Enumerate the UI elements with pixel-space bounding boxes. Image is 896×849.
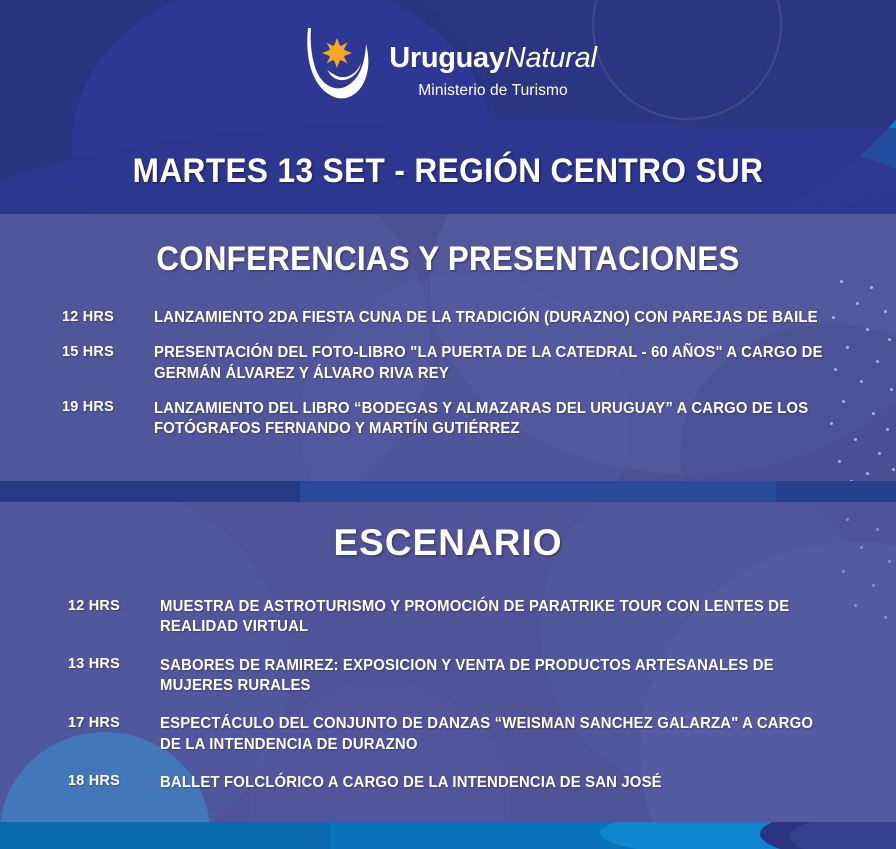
divider-dark-left [0, 481, 300, 502]
divider-dark-right [776, 481, 896, 502]
brand-wordmark: UruguayNatural [389, 44, 597, 73]
schedule-item: 12 HRS LANZAMIENTO 2DA FIESTA CUNA DE LA… [62, 308, 856, 328]
brand-subtitle: Ministerio de Turismo [389, 82, 597, 100]
page-title: MARTES 13 SET - REGIÓN CENTRO SUR [31, 152, 864, 191]
section-conferencias: CONFERENCIAS Y PRESENTACIONES 12 HRS LAN… [0, 214, 896, 481]
brand-logo-block: UruguayNatural Ministerio de Turismo [0, 22, 896, 106]
item-description: ESPECTÁCULO DEL CONJUNTO DE DANZAS “WEIS… [160, 714, 835, 755]
uruguay-natural-logo-icon [299, 22, 375, 106]
schedule-item: 12 HRS MUESTRA DE ASTROTURISMO Y PROMOCI… [68, 597, 856, 638]
item-description: SABORES DE RAMIREZ: EXPOSICION Y VENTA D… [160, 656, 835, 697]
item-time: 12 HRS [62, 308, 154, 325]
schedule-item: 18 HRS BALLET FOLCLÓRICO A CARGO DE LA I… [68, 773, 856, 793]
item-time: 15 HRS [62, 343, 154, 360]
item-description: BALLET FOLCLÓRICO A CARGO DE LA INTENDEN… [160, 773, 662, 793]
section-divider [0, 481, 896, 502]
item-time: 12 HRS [68, 597, 160, 614]
section-heading-escenario: ESCENARIO [0, 502, 896, 564]
schedule-item: 17 HRS ESPECTÁCULO DEL CONJUNTO DE DANZA… [68, 714, 856, 755]
item-time: 19 HRS [62, 399, 154, 416]
footer-decoration-navy-2 [790, 822, 896, 849]
schedule-item: 15 HRS PRESENTACIÓN DEL FOTO-LIBRO "LA P… [62, 343, 856, 384]
schedule-list-escenario: 12 HRS MUESTRA DE ASTROTURISMO Y PROMOCI… [0, 597, 896, 793]
item-description: PRESENTACIÓN DEL FOTO-LIBRO "LA PUERTA D… [154, 343, 835, 384]
section-escenario: ESCENARIO 12 HRS MUESTRA DE ASTROTURISMO… [0, 502, 896, 822]
item-time: 18 HRS [68, 773, 160, 790]
brand-name-bold: Uruguay [389, 42, 505, 74]
schedule-item: 19 HRS LANZAMIENTO DEL LIBRO “BODEGAS Y … [62, 399, 856, 440]
brand-name-italic: Natural [505, 42, 597, 74]
item-time: 13 HRS [68, 656, 160, 673]
item-description: MUESTRA DE ASTROTURISMO Y PROMOCIÓN DE P… [160, 597, 835, 638]
item-description: LANZAMIENTO 2DA FIESTA CUNA DE LA TRADIC… [154, 308, 818, 328]
section-heading-conferencias: CONFERENCIAS Y PRESENTACIONES [36, 214, 860, 279]
event-schedule-poster: UruguayNatural Ministerio de Turismo MAR… [0, 0, 896, 849]
poster-footer-band [0, 822, 896, 849]
item-description: LANZAMIENTO DEL LIBRO “BODEGAS Y ALMAZAR… [154, 399, 835, 440]
schedule-item: 13 HRS SABORES DE RAMIREZ: EXPOSICION Y … [68, 656, 856, 697]
item-time: 17 HRS [68, 714, 160, 731]
footer-decoration-left [0, 822, 330, 849]
schedule-list-conferencias: 12 HRS LANZAMIENTO 2DA FIESTA CUNA DE LA… [0, 308, 896, 440]
